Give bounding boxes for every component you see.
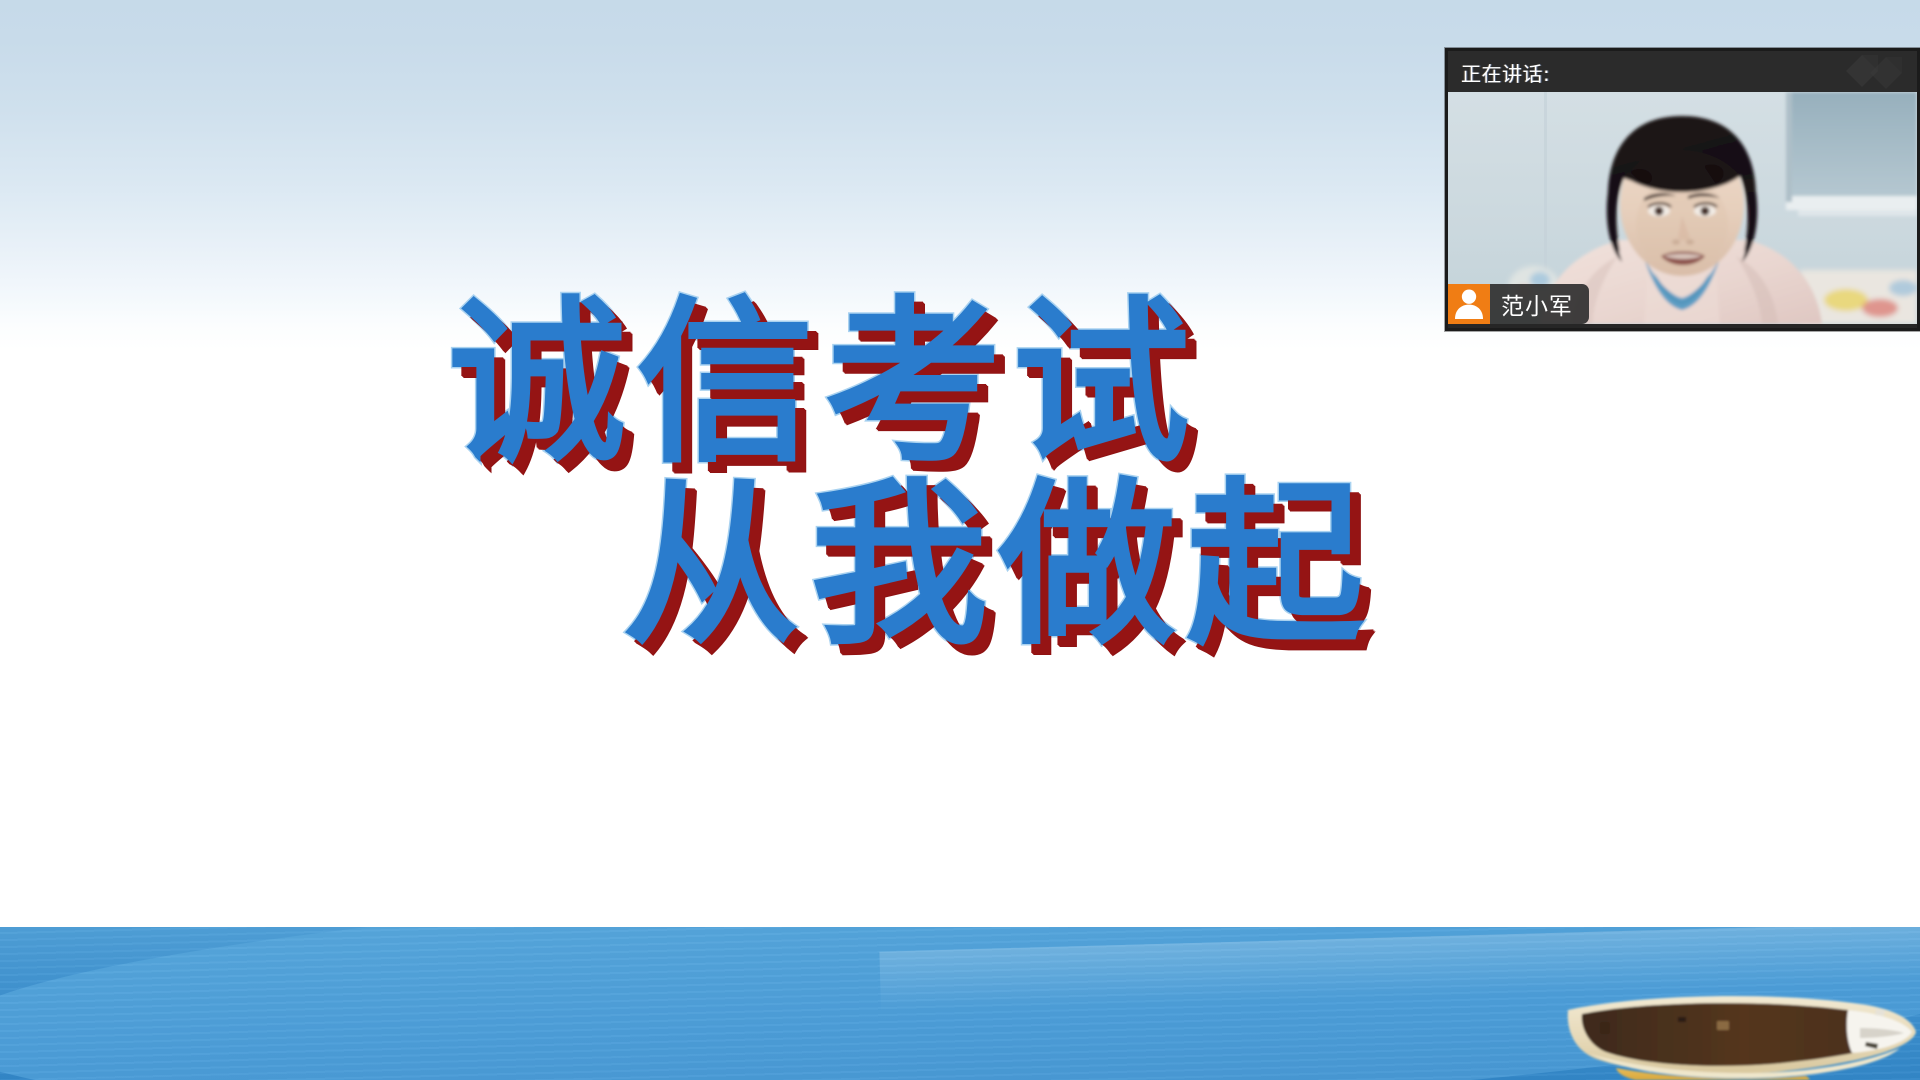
slide-title-block: 诚信考试 从我做起 [0, 285, 1920, 705]
slide-title-line-1: 诚信考试 [448, 295, 1200, 473]
participant-video-feed[interactable]: 范小军 [1448, 92, 1917, 324]
video-panel-header: 正在讲话: [1448, 51, 1917, 92]
rowboat-illustration [1560, 988, 1920, 1080]
presentation-screen: 诚信考试 从我做起 [0, 0, 1920, 1080]
participant-name-label: 范小军 [1490, 284, 1589, 324]
diagonal-ribbon-logo-icon [1828, 53, 1914, 92]
person-icon [1448, 284, 1490, 324]
participant-name-badge: 范小军 [1448, 284, 1589, 324]
speaker-video-panel[interactable]: 正在讲话: [1445, 48, 1920, 331]
now-speaking-label: 正在讲话: [1461, 58, 1550, 87]
slide-title-line-2: 从我做起 [622, 477, 1374, 655]
